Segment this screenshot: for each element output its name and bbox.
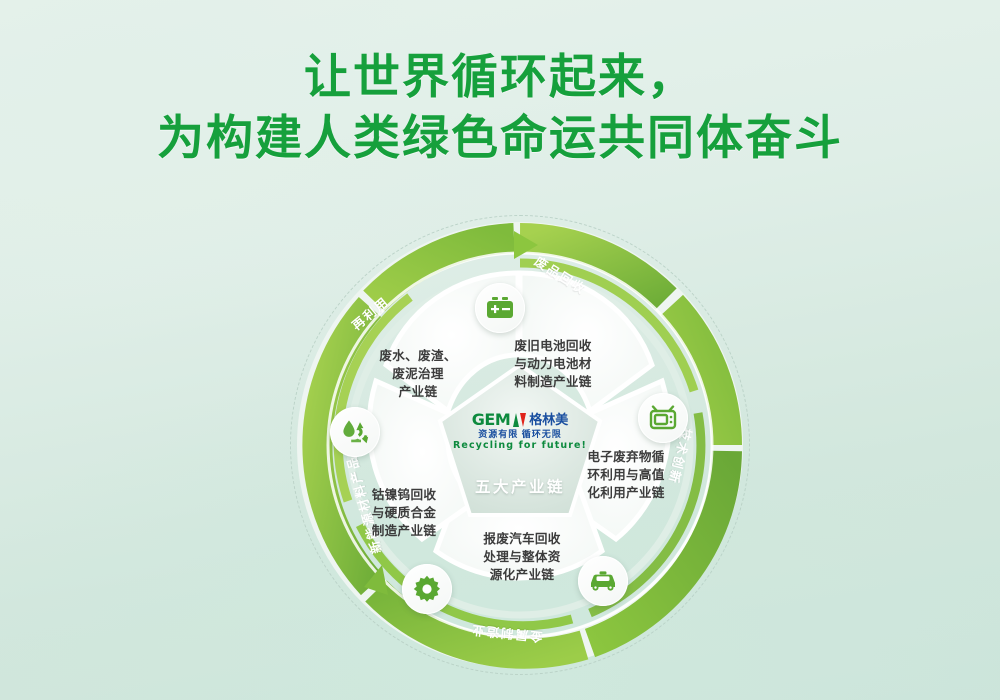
page-title-line-1: 让世界循环起来， <box>0 46 1000 107</box>
gear-icon <box>402 564 452 614</box>
center-brand-block: GEM 格林美 资源有限 循环无限 Recycling for future! … <box>440 411 600 497</box>
industry-chain-diagram: 废品回收 技术创新 金属制造业 新能源材料产品 再利用 废旧电池回收 与动力电池… <box>290 215 750 675</box>
gem-logo-m-glyph <box>513 413 526 427</box>
gem-logo-chinese: 格林美 <box>529 413 568 426</box>
page-title: 让世界循环起来， 为构建人类绿色命运共同体奋斗 <box>0 46 1000 168</box>
recycle-drop-icon <box>330 407 380 457</box>
gem-logo-mark: GEM <box>472 412 510 428</box>
gem-slogan-chinese: 资源有限 循环无限 <box>440 430 600 439</box>
television-icon <box>638 393 688 443</box>
gem-logo: GEM 格林美 <box>440 411 600 428</box>
petal-label-battery: 废旧电池回收 与动力电池材 料制造产业链 <box>488 338 618 392</box>
petal-label-waste: 废水、废渣、 废泥治理 产业链 <box>360 348 476 402</box>
center-headline: 五大产业链 <box>440 475 600 497</box>
gem-tagline-english: Recycling for future! <box>440 441 600 451</box>
petal-label-auto: 报废汽车回收 处理与整体资 源化产业链 <box>462 531 582 585</box>
page-title-line-2: 为构建人类绿色命运共同体奋斗 <box>0 107 1000 168</box>
car-icon <box>578 556 628 606</box>
battery-icon <box>475 283 525 333</box>
